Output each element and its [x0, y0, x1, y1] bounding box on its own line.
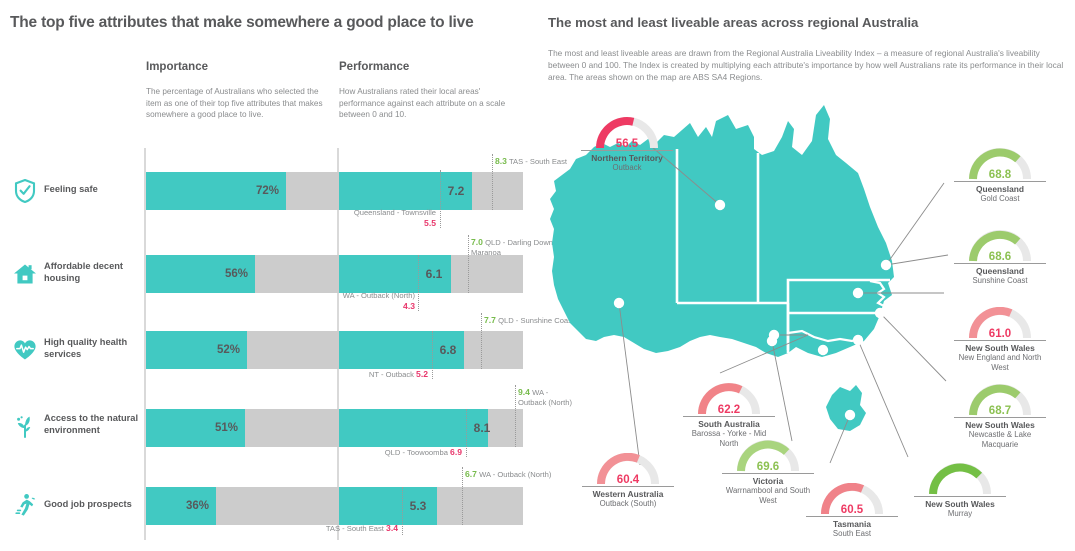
- performance-low-marker: [402, 487, 403, 535]
- map-title: The most and least liveable areas across…: [548, 15, 918, 30]
- performance-bar-track: [339, 172, 523, 210]
- gauge-arc: 56.5: [596, 117, 658, 150]
- gauge-state: Queensland: [976, 266, 1024, 276]
- gauge-rule: [806, 516, 898, 517]
- gauge-area: Sunshine Coast: [972, 276, 1027, 286]
- gauge-area: Outback: [612, 163, 641, 173]
- gauge-state: South Australia: [698, 419, 760, 429]
- gauge-arc: 62.2: [698, 383, 760, 416]
- performance-high-value: 9.4: [518, 387, 530, 397]
- performance-high-marker: [481, 313, 482, 369]
- gauge-value: 68.6: [969, 251, 1031, 263]
- performance-low-value: 6.9: [450, 447, 462, 457]
- gauge-area: Newcastle & Lake Macquarie: [954, 430, 1046, 449]
- gauge-arc: 61.0: [969, 307, 1031, 340]
- performance-low-marker: [440, 170, 441, 228]
- performance-value: 6.1: [420, 255, 448, 293]
- performance-high-marker: [462, 467, 463, 525]
- attribute-label: Feeling safe: [44, 184, 140, 196]
- shield-check-icon: [12, 178, 38, 204]
- performance-column-heading: Performance: [339, 61, 409, 73]
- performance-column-description: How Australians rated their local areas'…: [339, 86, 519, 121]
- gauge-victoria-warrnambool: 69.6 Victoria Warrnambool and South West: [722, 440, 814, 505]
- performance-high-marker: [492, 154, 493, 210]
- gauge-area: Gold Coast: [980, 194, 1019, 204]
- gauge-rule: [582, 486, 674, 487]
- attribute-row: Access to the natural environment 51% 8.…: [0, 409, 540, 447]
- plant-icon: [12, 414, 38, 440]
- attribute-label: High quality health services: [44, 337, 140, 360]
- performance-low-marker: [418, 255, 419, 311]
- gauge-arc: 68.7: [969, 384, 1031, 417]
- gauge-state: New South Wales: [925, 499, 995, 509]
- attribute-row: Affordable decent housing 56% 6.1 WA - O…: [0, 255, 540, 293]
- performance-low-annotation: NT - Outback 5.2: [340, 369, 428, 380]
- gauge-arc: 70.4: [929, 463, 991, 496]
- house-icon: [12, 261, 38, 287]
- gauge-arc: 68.8: [969, 148, 1031, 181]
- gauge-wa-outback-south: 60.4 Western Australia Outback (South): [582, 453, 674, 509]
- importance-value: 51%: [146, 409, 238, 447]
- gauge-rule: [722, 473, 814, 474]
- infographic-page: The top five attributes that make somewh…: [0, 0, 1075, 551]
- performance-high-value: 8.3: [495, 156, 507, 166]
- attributes-panel: The top five attributes that make somewh…: [0, 0, 540, 551]
- gauge-state: Western Australia: [593, 489, 664, 499]
- page-title: The top five attributes that make somewh…: [10, 14, 474, 32]
- gauge-sa-barossa-yorke: 62.2 South Australia Barossa - Yorke - M…: [683, 383, 775, 448]
- attribute-row: High quality health services 52% 6.8 NT …: [0, 331, 540, 369]
- performance-value: 7.2: [442, 172, 470, 210]
- performance-value: 6.8: [434, 331, 462, 369]
- performance-low-label: QLD - Toowoomba: [385, 448, 448, 457]
- gauge-value: 70.4: [929, 484, 991, 496]
- performance-low-label: WA - Outback (North): [343, 291, 415, 300]
- attribute-row: Good job prospects 36% 5.3 TAS - South E…: [0, 487, 540, 525]
- performance-value: 8.1: [468, 409, 496, 447]
- gauge-nsw-murray: 70.4 New South Wales Murray: [914, 463, 1006, 519]
- gauge-arc: 60.4: [597, 453, 659, 486]
- gauge-state: Tasmania: [833, 519, 871, 529]
- gauge-area: Warrnambool and South West: [722, 486, 814, 505]
- performance-low-value: 5.5: [424, 218, 436, 228]
- performance-low-value: 4.3: [403, 301, 415, 311]
- gauge-tasmania-south-east: 60.5 Tasmania South East: [806, 483, 898, 539]
- gauge-rule: [954, 263, 1046, 264]
- gauge-northern-territory-outback: 56.5 Northern Territory Outback: [581, 117, 673, 173]
- gauge-area: Murray: [948, 509, 972, 519]
- performance-high-marker: [468, 235, 469, 293]
- performance-low-marker: [466, 409, 467, 457]
- attribute-label: Affordable decent housing: [44, 261, 140, 284]
- gauge-area: Barossa - Yorke - Mid North: [683, 429, 775, 448]
- performance-high-value: 6.7: [465, 469, 477, 479]
- attribute-label: Access to the natural environment: [44, 413, 140, 436]
- gauge-state: Northern Territory: [591, 153, 663, 163]
- gauge-value: 68.7: [969, 405, 1031, 417]
- gauge-state: New South Wales: [965, 420, 1035, 430]
- importance-column-description: The percentage of Australians who select…: [146, 86, 326, 121]
- gauge-arc: 68.6: [969, 230, 1031, 263]
- gauge-queensland-sunshine-coast: 68.6 Queensland Sunshine Coast: [954, 230, 1046, 286]
- gauge-value: 60.5: [821, 504, 883, 516]
- performance-low-marker: [432, 331, 433, 379]
- importance-value: 36%: [146, 487, 209, 525]
- performance-low-value: 5.2: [416, 369, 428, 379]
- gauge-value: 56.5: [596, 138, 658, 150]
- attribute-row: Feeling safe 72% 7.2 Queensland - Townsv…: [0, 172, 540, 210]
- gauge-value: 69.6: [737, 461, 799, 473]
- performance-bar-track: [339, 331, 523, 369]
- gauge-rule: [954, 340, 1046, 341]
- map-description: The most and least liveable areas are dr…: [548, 47, 1067, 83]
- gauge-value: 60.4: [597, 474, 659, 486]
- importance-column-heading: Importance: [146, 61, 208, 73]
- gauge-rule: [581, 150, 673, 151]
- performance-low-label: TAS - South East: [326, 524, 384, 533]
- gauge-rule: [914, 496, 1006, 497]
- gauge-area: New England and North West: [954, 353, 1046, 372]
- performance-low-label: NT - Outback: [369, 370, 414, 379]
- gauge-rule: [683, 416, 775, 417]
- gauge-rule: [954, 417, 1046, 418]
- australia-map: 56.5 Northern Territory Outback 68.8 Que…: [540, 85, 1075, 551]
- gauge-queensland-gold-coast: 68.8 Queensland Gold Coast: [954, 148, 1046, 204]
- performance-high-value: 7.7: [484, 315, 496, 325]
- importance-value: 72%: [146, 172, 279, 210]
- importance-value: 52%: [146, 331, 240, 369]
- heart-pulse-icon: [12, 337, 38, 363]
- performance-high-value: 7.0: [471, 237, 483, 247]
- performance-low-label: Queensland - Townsville: [354, 208, 436, 217]
- gauge-nsw-newcastle: 68.7 New South Wales Newcastle & Lake Ma…: [954, 384, 1046, 449]
- attribute-label: Good job prospects: [44, 499, 140, 511]
- gauge-arc: 60.5: [821, 483, 883, 516]
- gauge-value: 62.2: [698, 404, 760, 416]
- gauge-state: Queensland: [976, 184, 1024, 194]
- performance-low-annotation: TAS - South East 3.4: [320, 523, 398, 534]
- gauge-area: South East: [833, 529, 871, 539]
- gauge-state: New South Wales: [965, 343, 1035, 353]
- performance-low-annotation: Queensland - Townsville 5.5: [340, 208, 436, 229]
- gauge-value: 61.0: [969, 328, 1031, 340]
- gauge-nsw-new-england: 61.0 New South Wales New England and Nor…: [954, 307, 1046, 372]
- gauge-state: Victoria: [753, 476, 784, 486]
- gauge-rule: [954, 181, 1046, 182]
- runner-icon: [12, 492, 38, 518]
- performance-value: 5.3: [404, 487, 432, 525]
- gauge-area: Outback (South): [600, 499, 657, 509]
- performance-high-marker: [515, 385, 516, 447]
- performance-low-annotation: QLD - Toowoomba 6.9: [370, 447, 462, 458]
- gauge-value: 68.8: [969, 169, 1031, 181]
- performance-low-annotation: WA - Outback (North) 4.3: [333, 291, 415, 312]
- performance-low-value: 3.4: [386, 523, 398, 533]
- importance-value: 56%: [146, 255, 248, 293]
- map-panel: The most and least liveable areas across…: [540, 0, 1075, 551]
